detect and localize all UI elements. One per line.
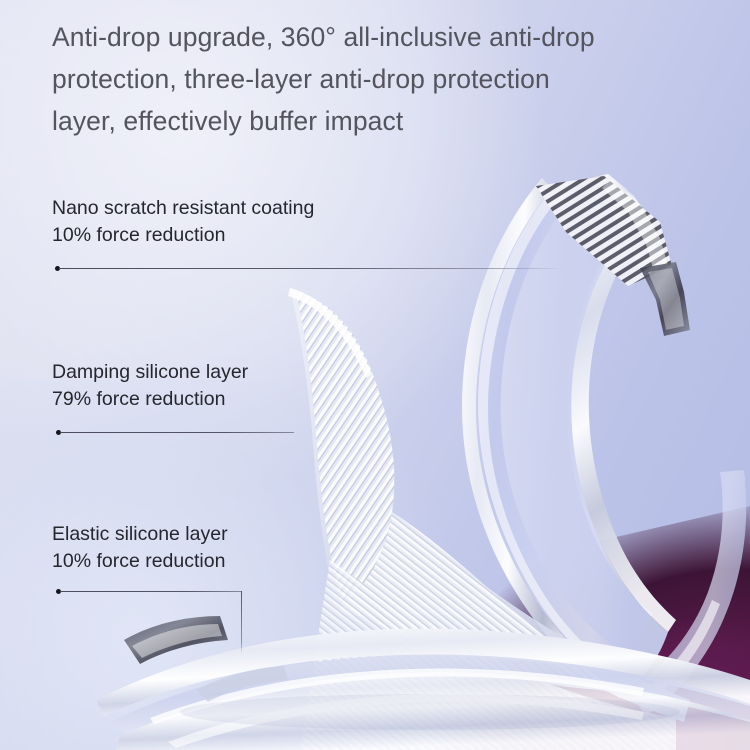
- page-title: Anti-drop upgrade, 360° all-inclusive an…: [52, 16, 702, 142]
- callout-metric: 10% force reduction: [52, 548, 228, 575]
- callout-metric: 79% force reduction: [52, 386, 248, 413]
- callout-elastic-silicone: Elastic silicone layer 10% force reducti…: [52, 521, 228, 575]
- callout-damping-silicone: Damping silicone layer 79% force reducti…: [52, 359, 248, 413]
- callout-nano-coating: Nano scratch resistant coating 10% force…: [52, 195, 314, 249]
- callout-title: Elastic silicone layer: [52, 521, 228, 548]
- background-purple-accent-inner: [530, 620, 750, 750]
- callout-title: Nano scratch resistant coating: [52, 195, 314, 222]
- product-infographic: Anti-drop upgrade, 360° all-inclusive an…: [0, 0, 750, 750]
- callout-metric: 10% force reduction: [52, 222, 314, 249]
- callout-title: Damping silicone layer: [52, 359, 248, 386]
